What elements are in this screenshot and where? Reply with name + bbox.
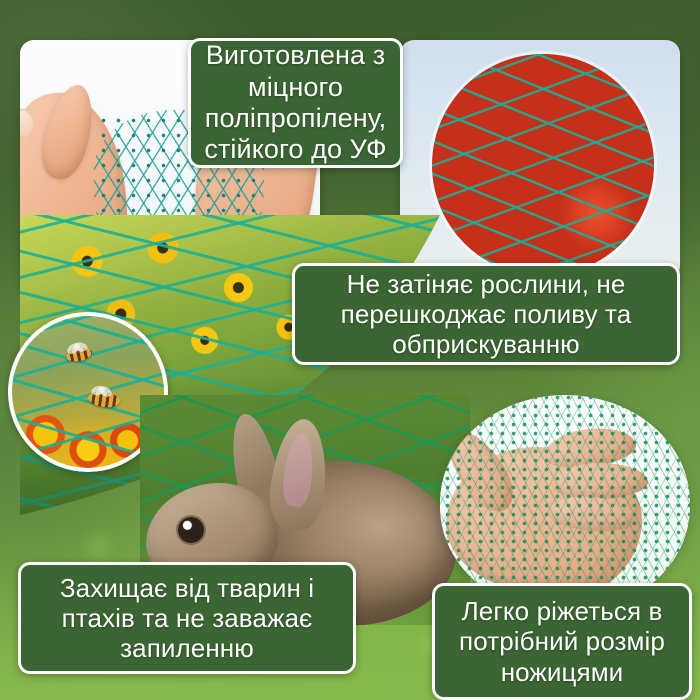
tomatoes-circle-crop [432,54,654,276]
caption-no-shade: Не затіняє рослини, не перешкоджає полив… [292,263,680,365]
caption-material: Виготовлена з міцного поліпропілену, сті… [188,38,403,168]
fingernail-icon [20,107,36,138]
caption-no-shade-text: Не затіняє рослини, не перешкоджає полив… [305,269,667,359]
rabbit-eye [178,517,204,543]
caption-cuttable: Легко ріжеться в потрібний розмір ножиця… [432,583,692,700]
caption-protects: Захищає від тварин і птахів та не заважа… [18,562,356,674]
caption-protects-text: Захищає від тварин і птахів та не заважа… [31,573,343,663]
fine-net-mesh [440,395,690,610]
infographic-stage: Виготовлена з міцного поліпропілену, сті… [0,0,700,700]
caption-cuttable-text: Легко ріжеться в потрібний розмір ножиця… [445,596,679,686]
photo-hand-fine-net [440,395,690,610]
caption-material-text: Виготовлена з міцного поліпропілену, сті… [201,40,390,165]
photo-tomatoes [400,40,680,280]
